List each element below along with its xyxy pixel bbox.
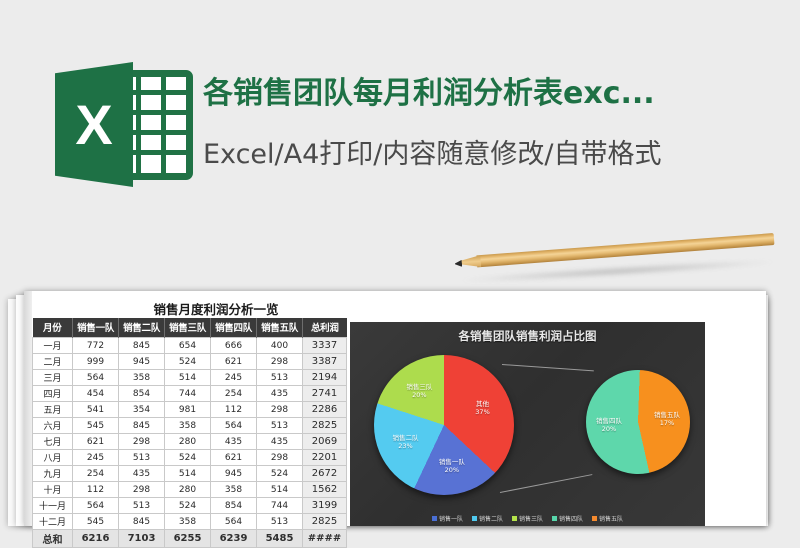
cell-total: 2194 (303, 370, 347, 386)
pie-connector-top (502, 364, 594, 371)
table-row: 六月5458453585645132825 (33, 418, 347, 434)
legend-swatch-icon (512, 516, 517, 521)
header-banner: X 各销售团队每月利润分析表exc... Excel/A4打印/内容随意修改/自… (0, 0, 800, 230)
legend-item[interactable]: 销售二队 (472, 514, 503, 523)
cell-value: 545 (73, 514, 119, 530)
cell-value: 845 (119, 514, 165, 530)
table-row: 十二月5458453585645132825 (33, 514, 347, 530)
cell-value: 298 (119, 482, 165, 498)
table-row: 三月5643585142455132194 (33, 370, 347, 386)
cell-sum: 5485 (257, 530, 303, 548)
cell-value: 435 (119, 466, 165, 482)
cell-value: 845 (119, 338, 165, 354)
cell-value: 354 (119, 402, 165, 418)
table-row: 四月4548547442544352741 (33, 386, 347, 402)
cell-value: 999 (73, 354, 119, 370)
legend-swatch-icon (432, 516, 437, 521)
table-total-row: 总和62167103625562395485#### (33, 530, 347, 548)
cell-month: 四月 (33, 386, 73, 402)
legend-item[interactable]: 销售三队 (512, 514, 543, 523)
excel-logo-letter: X (55, 62, 133, 187)
cell-value: 513 (257, 418, 303, 434)
cell-value: 513 (257, 514, 303, 530)
chart-title: 各销售团队销售利润占比图 (350, 328, 705, 344)
cell-value: 298 (257, 450, 303, 466)
cell-value: 435 (211, 434, 257, 450)
cell-value: 564 (211, 514, 257, 530)
cell-value: 772 (73, 338, 119, 354)
cell-month: 八月 (33, 450, 73, 466)
cell-value: 280 (165, 482, 211, 498)
cell-total: 3337 (303, 338, 347, 354)
cell-value: 744 (257, 498, 303, 514)
cell-value: 564 (73, 498, 119, 514)
cell-value: 514 (165, 466, 211, 482)
cell-total: 2825 (303, 514, 347, 530)
page-title: 各销售团队每月利润分析表exc... (203, 68, 655, 112)
cell-sum: #### (303, 530, 347, 548)
table-row: 十一月5645135248547443199 (33, 498, 347, 514)
cell-total: 2069 (303, 434, 347, 450)
cell-sum: 6239 (211, 530, 257, 548)
legend-item[interactable]: 销售一队 (432, 514, 463, 523)
cell-value: 245 (73, 450, 119, 466)
column-header-team1: 销售一队 (73, 318, 119, 338)
cell-month: 六月 (33, 418, 73, 434)
table-row: 九月2544355149455242672 (33, 466, 347, 482)
cell-value: 514 (165, 370, 211, 386)
cell-value: 358 (165, 418, 211, 434)
legend-swatch-icon (552, 516, 557, 521)
legend-label: 销售三队 (519, 514, 543, 523)
spreadsheet-row-gutter (24, 291, 32, 526)
cell-value: 513 (119, 498, 165, 514)
cell-month: 十二月 (33, 514, 73, 530)
cell-total: 2286 (303, 402, 347, 418)
cell-value: 981 (165, 402, 211, 418)
cell-value: 280 (165, 434, 211, 450)
legend-label: 销售一队 (439, 514, 463, 523)
cell-month: 九月 (33, 466, 73, 482)
cell-value: 854 (211, 498, 257, 514)
column-header-month: 月份 (33, 318, 73, 338)
table-row: 十月1122982803585141562 (33, 482, 347, 498)
cell-total: 2672 (303, 466, 347, 482)
cell-value: 524 (165, 450, 211, 466)
cell-value: 298 (257, 402, 303, 418)
cell-month: 十一月 (33, 498, 73, 514)
cell-month: 一月 (33, 338, 73, 354)
cell-sum: 总和 (33, 530, 73, 548)
pie-connector-bottom (500, 474, 592, 493)
cell-total: 3387 (303, 354, 347, 370)
cell-value: 845 (119, 418, 165, 434)
cell-total: 2741 (303, 386, 347, 402)
cell-month: 三月 (33, 370, 73, 386)
table-row: 一月7728456546664003337 (33, 338, 347, 354)
cell-value: 358 (119, 370, 165, 386)
cell-value: 621 (211, 450, 257, 466)
cell-value: 945 (119, 354, 165, 370)
legend-swatch-icon (472, 516, 477, 521)
legend-label: 销售二队 (479, 514, 503, 523)
cell-month: 二月 (33, 354, 73, 370)
cell-sum: 6255 (165, 530, 211, 548)
cell-value: 524 (257, 466, 303, 482)
legend-label: 销售四队 (559, 514, 583, 523)
table-row: 七月6212982804354352069 (33, 434, 347, 450)
cell-value: 621 (211, 354, 257, 370)
cell-value: 454 (73, 386, 119, 402)
chart-legend: 销售一队销售二队销售三队销售四队销售五队 (350, 514, 705, 523)
cell-value: 513 (119, 450, 165, 466)
table-row: 八月2455135246212982201 (33, 450, 347, 466)
table-header-row: 月份 销售一队 销售二队 销售三队 销售四队 销售五队 总利润 (33, 318, 347, 338)
cell-value: 564 (73, 370, 119, 386)
cell-sum: 6216 (73, 530, 119, 548)
profit-analysis-table: 月份 销售一队 销售二队 销售三队 销售四队 销售五队 总利润 一月772845… (32, 318, 347, 548)
column-header-team3: 销售三队 (165, 318, 211, 338)
cell-total: 3199 (303, 498, 347, 514)
cell-total: 1562 (303, 482, 347, 498)
cell-value: 245 (211, 370, 257, 386)
sales-profit-pie-chart: 各销售团队销售利润占比图 其他37%销售一队20%销售二队23%销售三队20%销… (350, 322, 705, 526)
cell-value: 298 (257, 354, 303, 370)
legend-swatch-icon (592, 516, 597, 521)
column-header-team5: 销售五队 (257, 318, 303, 338)
cell-value: 358 (211, 482, 257, 498)
cell-value: 254 (73, 466, 119, 482)
cell-value: 744 (165, 386, 211, 402)
cell-value: 435 (257, 434, 303, 450)
cell-value: 524 (165, 498, 211, 514)
cell-value: 564 (211, 418, 257, 434)
cell-value: 854 (119, 386, 165, 402)
cell-value: 621 (73, 434, 119, 450)
cell-value: 545 (73, 418, 119, 434)
cell-month: 七月 (33, 434, 73, 450)
legend-item[interactable]: 销售五队 (592, 514, 623, 523)
cell-value: 945 (211, 466, 257, 482)
cell-value: 524 (165, 354, 211, 370)
table-title: 销售月度利润分析一览 (96, 299, 336, 318)
cell-value: 654 (165, 338, 211, 354)
page-subtitle: Excel/A4打印/内容随意修改/自带格式 (203, 132, 661, 171)
cell-value: 254 (211, 386, 257, 402)
cell-value: 400 (257, 338, 303, 354)
legend-item[interactable]: 销售四队 (552, 514, 583, 523)
secondary-pie (586, 370, 690, 474)
cell-value: 298 (119, 434, 165, 450)
cell-sum: 7103 (119, 530, 165, 548)
column-header-total: 总利润 (303, 318, 347, 338)
cell-total: 2201 (303, 450, 347, 466)
primary-pie (374, 355, 514, 495)
cell-month: 十月 (33, 482, 73, 498)
cell-value: 513 (257, 370, 303, 386)
column-header-team4: 销售四队 (211, 318, 257, 338)
cell-value: 112 (211, 402, 257, 418)
cell-value: 514 (257, 482, 303, 498)
pencil-graphite-icon (455, 260, 463, 268)
cell-value: 435 (257, 386, 303, 402)
cell-value: 666 (211, 338, 257, 354)
table-row: 二月9999455246212983387 (33, 354, 347, 370)
table-row: 五月5413549811122982286 (33, 402, 347, 418)
column-header-team2: 销售二队 (119, 318, 165, 338)
cell-total: 2825 (303, 418, 347, 434)
excel-logo: X (55, 62, 195, 187)
legend-label: 销售五队 (599, 514, 623, 523)
cell-value: 541 (73, 402, 119, 418)
cell-month: 五月 (33, 402, 73, 418)
cell-value: 358 (165, 514, 211, 530)
cell-value: 112 (73, 482, 119, 498)
